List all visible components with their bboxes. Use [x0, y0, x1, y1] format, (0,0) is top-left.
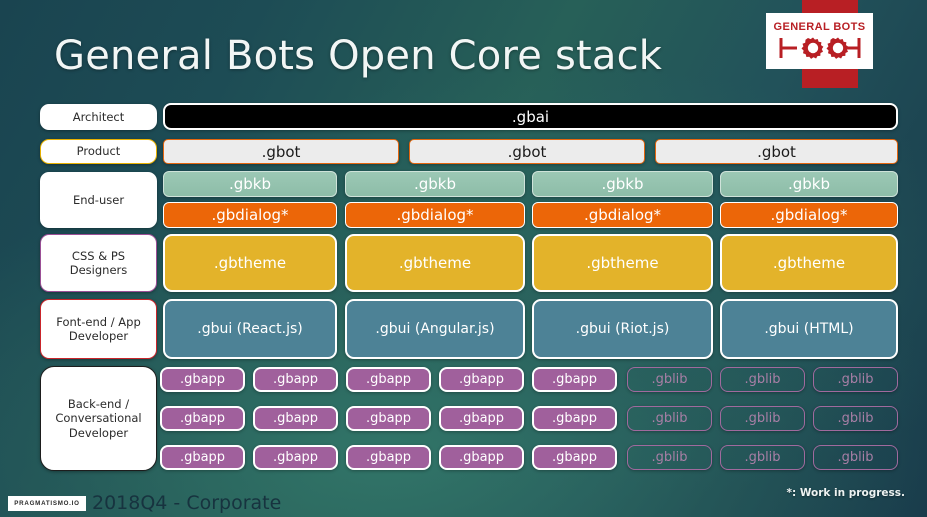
- layer-gbapp-box[interactable]: .gbapp: [253, 367, 338, 392]
- layer-gbapp-box[interactable]: .gbapp: [346, 445, 431, 470]
- pragmatismo-wordmark: PRAGMATISMO.IO: [14, 500, 79, 507]
- layer-gbapp-box[interactable]: .gbapp: [532, 406, 617, 431]
- layer-gblib-box[interactable]: .gblib: [813, 406, 898, 431]
- layer-gbapp-box[interactable]: .gbapp: [253, 406, 338, 431]
- layer-gbdialog-box[interactable]: .gbdialog*: [720, 202, 898, 228]
- layer-gbtheme-box[interactable]: .gbtheme: [720, 234, 898, 292]
- role-label-back-end-conversational-developer: Back-end / Conversational Developer: [40, 366, 157, 471]
- layer-gbdialog-box[interactable]: .gbdialog*: [532, 202, 713, 228]
- role-label-front-end-app-developer: Font-end / App Developer: [40, 299, 157, 359]
- layer-gbui-angular-box[interactable]: .gbui (Angular.js): [345, 299, 525, 359]
- layer-gbot-box[interactable]: .gbot: [163, 139, 399, 164]
- layer-gblib-box[interactable]: .gblib: [813, 367, 898, 392]
- layer-gbapp-box[interactable]: .gbapp: [160, 367, 245, 392]
- layer-gbkb-box[interactable]: .gbkb: [163, 171, 337, 197]
- role-label-product: Product: [40, 139, 157, 164]
- role-label-end-user: End-user: [40, 172, 157, 228]
- pragmatismo-logo: PRAGMATISMO.IO: [8, 496, 86, 511]
- role-label-css-ps-designers: CSS & PS Designers: [40, 234, 157, 292]
- layer-gblib-box[interactable]: .gblib: [627, 445, 712, 470]
- layer-gbapp-box[interactable]: .gbapp: [160, 406, 245, 431]
- layer-gbapp-box[interactable]: .gbapp: [439, 367, 524, 392]
- layer-gbapp-box[interactable]: .gbapp: [532, 445, 617, 470]
- layer-gbot-box[interactable]: .gbot: [655, 139, 898, 164]
- layer-gbdialog-box[interactable]: .gbdialog*: [163, 202, 337, 228]
- layer-gbui-html-box[interactable]: .gbui (HTML): [720, 299, 898, 359]
- layer-gbapp-box[interactable]: .gbapp: [346, 406, 431, 431]
- layer-gbtheme-box[interactable]: .gbtheme: [163, 234, 337, 292]
- layer-gbtheme-box[interactable]: .gbtheme: [532, 234, 713, 292]
- layer-gblib-box[interactable]: .gblib: [813, 445, 898, 470]
- layer-gbkb-box[interactable]: .gbkb: [532, 171, 713, 197]
- layer-gbapp-box[interactable]: .gbapp: [532, 367, 617, 392]
- layer-gblib-box[interactable]: .gblib: [720, 367, 805, 392]
- role-label-architect: Architect: [40, 104, 157, 130]
- layer-gbtheme-box[interactable]: .gbtheme: [345, 234, 525, 292]
- layer-gbkb-box[interactable]: .gbkb: [345, 171, 525, 197]
- layer-gbui-riot-box[interactable]: .gbui (Riot.js): [532, 299, 713, 359]
- layer-gbui-react-box[interactable]: .gbui (React.js): [163, 299, 337, 359]
- layer-gblib-box[interactable]: .gblib: [627, 406, 712, 431]
- layer-gbapp-box[interactable]: .gbapp: [253, 445, 338, 470]
- layer-gblib-box[interactable]: .gblib: [627, 367, 712, 392]
- footer-caption: 2018Q4 - Corporate: [92, 492, 281, 514]
- layer-gbot-box[interactable]: .gbot: [409, 139, 645, 164]
- slide-canvas: GENERAL BOTS General Bots Open Core stac…: [0, 0, 927, 517]
- layer-gbapp-box[interactable]: .gbapp: [160, 445, 245, 470]
- layer-gbapp-box[interactable]: .gbapp: [439, 445, 524, 470]
- layer-gbai-box[interactable]: .gbai: [163, 103, 898, 130]
- stack-diagram: Architect Product End-user CSS & PS Desi…: [0, 0, 927, 517]
- layer-gbapp-box[interactable]: .gbapp: [439, 406, 524, 431]
- layer-gblib-box[interactable]: .gblib: [720, 445, 805, 470]
- layer-gbapp-box[interactable]: .gbapp: [346, 367, 431, 392]
- layer-gblib-box[interactable]: .gblib: [720, 406, 805, 431]
- layer-gbdialog-box[interactable]: .gbdialog*: [345, 202, 525, 228]
- layer-gbkb-box[interactable]: .gbkb: [720, 171, 898, 197]
